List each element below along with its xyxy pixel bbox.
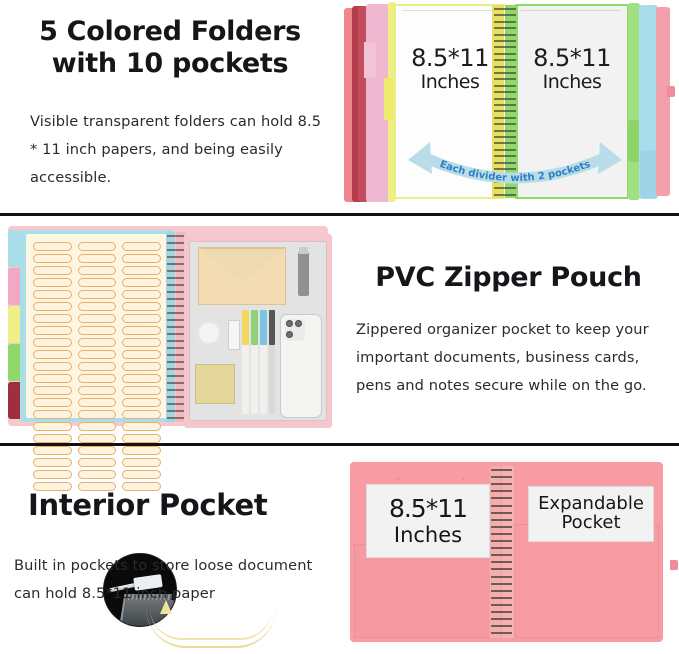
coil-ring xyxy=(491,533,512,535)
coil-rings-2 xyxy=(166,232,186,422)
blank-label xyxy=(122,326,161,335)
label-sticker-sheet xyxy=(26,234,168,418)
coil-ring xyxy=(167,347,184,349)
headline-line-2: with 10 pockets xyxy=(52,48,289,79)
blank-label xyxy=(78,410,117,419)
blank-label xyxy=(78,374,117,383)
coil-ring xyxy=(167,270,184,272)
left-page-size-label: 8.5*11 Inches xyxy=(400,46,500,92)
panel-folders-text: 5 Colored Folders with 10 pockets Visibl… xyxy=(0,0,340,213)
panel-zipper-pouch-title: PVC Zipper Pouch xyxy=(339,262,678,294)
coil-ring xyxy=(167,361,184,363)
divider-pockets-annotation: Each divider with 2 pockets xyxy=(400,140,630,202)
blank-label xyxy=(122,314,161,323)
blank-label xyxy=(33,302,72,311)
coil-ring xyxy=(491,476,512,478)
coil-ring xyxy=(167,403,184,405)
coil-ring xyxy=(167,277,184,279)
body-line-2: can hold 8.5*11 inch paper xyxy=(14,585,215,602)
expandable-label-line-2: Pocket xyxy=(561,514,620,533)
right-page-size-value: 8.5*11 xyxy=(520,46,624,70)
coil-ring xyxy=(491,519,512,521)
blank-label xyxy=(122,338,161,347)
coil-ring xyxy=(167,235,184,237)
blank-label xyxy=(33,398,72,407)
coil-ring xyxy=(491,547,512,549)
spiral-binding-3 xyxy=(490,466,514,638)
blank-label xyxy=(78,434,117,443)
phone-camera-module xyxy=(285,319,305,341)
coil-ring xyxy=(167,417,184,419)
elastic-clasp xyxy=(667,86,675,97)
infographic-sheet: 5 Colored Folders with 10 pockets Visibl… xyxy=(0,0,679,654)
blank-label xyxy=(78,422,117,431)
blank-label xyxy=(78,302,117,311)
blank-label xyxy=(33,386,72,395)
blank-label xyxy=(78,254,117,263)
blank-label xyxy=(33,422,72,431)
coil-ring xyxy=(494,123,516,125)
coil-ring xyxy=(167,284,184,286)
binder-body xyxy=(8,226,328,426)
blank-label xyxy=(33,290,72,299)
svg-text:Each divider with 2 pockets: Each divider with 2 pockets xyxy=(438,159,592,184)
coil-ring xyxy=(491,554,512,556)
coil-ring xyxy=(167,368,184,370)
pen-yellow xyxy=(242,310,249,414)
coil-ring xyxy=(167,256,184,258)
blank-label xyxy=(33,362,72,371)
coil-ring xyxy=(167,305,184,307)
blank-label xyxy=(33,338,72,347)
panel-interior-pocket-body: Built in pockets to store loose document… xyxy=(14,552,334,608)
coil-ring xyxy=(167,326,184,328)
blank-label xyxy=(33,266,72,275)
blank-label xyxy=(33,374,72,383)
usb-drive-item xyxy=(298,252,309,296)
coil-ring xyxy=(491,604,512,606)
coil-ring xyxy=(491,590,512,592)
panel-interior-pocket-image: 8.5*11 Inches Expandable Pocket xyxy=(340,446,679,654)
blank-label xyxy=(122,386,161,395)
coil-ring xyxy=(491,611,512,613)
coil-ring xyxy=(494,8,516,10)
coil-ring xyxy=(491,618,512,620)
left-page-size-unit: Inches xyxy=(400,73,500,92)
blank-label xyxy=(78,326,117,335)
interior-pocket-illustration: 8.5*11 Inches Expandable Pocket xyxy=(340,446,679,654)
coil-ring xyxy=(167,319,184,321)
coil-ring xyxy=(167,263,184,265)
coil-ring xyxy=(491,469,512,471)
interior-pocket-left xyxy=(354,544,491,638)
coil-ring xyxy=(167,291,184,293)
coil-ring xyxy=(491,583,512,585)
blank-label xyxy=(122,242,161,251)
panel-zipper-pouch-text: PVC Zipper Pouch Zippered organizer pock… xyxy=(339,216,679,443)
blank-label xyxy=(122,362,161,371)
sticky-note-item xyxy=(195,364,235,404)
coil-ring xyxy=(494,104,516,106)
coil-ring xyxy=(491,561,512,563)
coil-ring xyxy=(494,21,516,23)
rivet-right xyxy=(462,478,465,481)
coil-ring xyxy=(494,34,516,36)
blank-label xyxy=(33,242,72,251)
blank-label xyxy=(122,422,161,431)
blank-label xyxy=(78,398,117,407)
paper-size-unit: Inches xyxy=(394,524,462,546)
envelope-item xyxy=(198,247,286,305)
panel-interior-pocket-text: Interior Pocket Built in pockets to stor… xyxy=(0,446,340,654)
side-clasp xyxy=(670,560,678,570)
coil-ring xyxy=(167,312,184,314)
blank-label xyxy=(78,314,117,323)
blank-label xyxy=(122,434,161,443)
coil-ring xyxy=(494,130,516,132)
coil-ring xyxy=(494,110,516,112)
coil-ring xyxy=(167,340,184,342)
coil-ring xyxy=(491,576,512,578)
blank-label xyxy=(122,398,161,407)
coil-ring xyxy=(494,136,516,138)
coil-ring xyxy=(167,249,184,251)
panel-zipper-pouch: PVC Zipper Pouch Zippered organizer pock… xyxy=(0,216,679,443)
pen-blue xyxy=(260,310,267,414)
blank-label xyxy=(33,410,72,419)
paper-size-value: 8.5*11 xyxy=(389,496,467,522)
coil-ring xyxy=(491,568,512,570)
coil-ring xyxy=(491,526,512,528)
blank-label xyxy=(33,314,72,323)
blank-label xyxy=(33,278,72,287)
blank-label xyxy=(78,350,117,359)
coil-ring xyxy=(167,354,184,356)
coil-ring xyxy=(167,333,184,335)
blank-label xyxy=(122,278,161,287)
smartphone-item xyxy=(280,314,322,418)
folder-spread-illustration: 8.5*11 Inches 8.5*11 Inches xyxy=(340,0,679,213)
blank-label xyxy=(122,254,161,263)
body-line-1: Built in pockets to store loose document xyxy=(14,557,312,574)
coil-ring xyxy=(167,389,184,391)
pouch-spread-illustration xyxy=(0,216,339,443)
folder-layer-pink-back xyxy=(656,7,670,196)
coil-ring xyxy=(167,410,184,412)
coil-ring xyxy=(491,540,512,542)
panel-interior-pocket: Interior Pocket Built in pockets to stor… xyxy=(0,446,679,654)
blank-label xyxy=(33,434,72,443)
coil-ring xyxy=(491,497,512,499)
coil-ring xyxy=(167,375,184,377)
panel-folders: 5 Colored Folders with 10 pockets Visibl… xyxy=(0,0,679,213)
page-title: 5 Colored Folders with 10 pockets xyxy=(0,16,340,80)
right-page-size-label: 8.5*11 Inches xyxy=(520,46,624,92)
coil-ring xyxy=(491,512,512,514)
coil-rings-3 xyxy=(490,466,514,638)
blank-label xyxy=(122,266,161,275)
coil-ring xyxy=(494,117,516,119)
paper-size-card: 8.5*11 Inches xyxy=(366,484,490,558)
blank-label xyxy=(122,290,161,299)
folder-tab-pink xyxy=(364,42,376,78)
blank-label xyxy=(122,374,161,383)
coil-ring xyxy=(494,14,516,16)
panel-folders-body: Visible transparent folders can hold 8.5… xyxy=(30,108,330,192)
blank-label xyxy=(78,386,117,395)
pink-binder-body: 8.5*11 Inches Expandable Pocket xyxy=(350,462,663,642)
blank-label xyxy=(78,338,117,347)
coil-ring xyxy=(491,490,512,492)
panel-zipper-pouch-body: Zippered organizer pocket to keep your i… xyxy=(356,316,668,400)
blank-label xyxy=(122,302,161,311)
coil-ring xyxy=(167,242,184,244)
pouch-interior xyxy=(189,241,327,421)
blank-label xyxy=(78,278,117,287)
coil-ring xyxy=(491,483,512,485)
rivet-left xyxy=(396,478,399,481)
blank-label xyxy=(78,290,117,299)
coil-ring xyxy=(491,505,512,507)
blank-label xyxy=(33,350,72,359)
spiral-binding-2 xyxy=(166,232,186,422)
tape-roll-item xyxy=(196,320,222,346)
folder-tab-blue xyxy=(640,150,657,198)
blank-label xyxy=(122,350,161,359)
blank-label xyxy=(33,326,72,335)
blank-label xyxy=(78,242,117,251)
business-card-item xyxy=(228,320,240,350)
panel-zipper-pouch-image xyxy=(0,216,339,443)
blank-label xyxy=(33,254,72,263)
expandable-pocket-card: Expandable Pocket xyxy=(528,486,654,542)
headline-line-1: 5 Colored Folders xyxy=(39,16,301,47)
coil-ring xyxy=(491,597,512,599)
coil-ring xyxy=(167,298,184,300)
curved-arrow-icon: Each divider with 2 pockets xyxy=(400,140,630,202)
coil-ring xyxy=(167,396,184,398)
blank-label xyxy=(122,410,161,419)
coil-ring xyxy=(494,40,516,42)
panel-interior-pocket-title: Interior Pocket xyxy=(0,488,340,522)
coil-ring xyxy=(167,382,184,384)
panel-folders-image: 8.5*11 Inches 8.5*11 Inches xyxy=(340,0,679,213)
blank-label xyxy=(78,266,117,275)
right-page-size-unit: Inches xyxy=(520,73,624,92)
left-page-size-value: 8.5*11 xyxy=(400,46,500,70)
blank-label xyxy=(78,362,117,371)
highlighter-pens-item xyxy=(242,310,275,414)
pvc-zipper-pouch xyxy=(184,234,332,428)
coil-ring xyxy=(494,27,516,29)
pen-grey xyxy=(269,310,275,414)
coil-ring xyxy=(491,625,512,627)
coil-ring xyxy=(494,98,516,100)
pen-green xyxy=(251,310,258,414)
coil-ring xyxy=(491,632,512,634)
